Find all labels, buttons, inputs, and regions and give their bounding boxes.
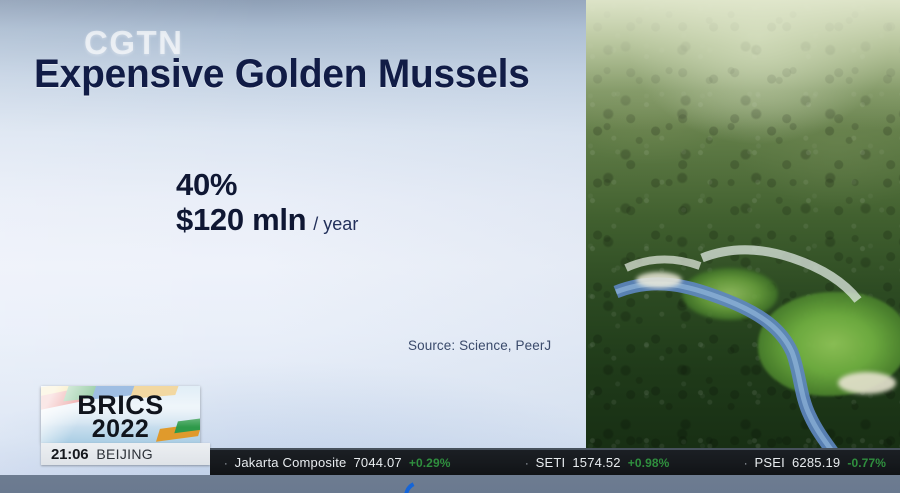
source-attribution: Source: Science, PeerJ (408, 338, 551, 353)
clock-city: BEIJING (96, 446, 153, 462)
stat-amount-unit: / year (313, 213, 358, 236)
ticker-index-value: 7044.07 (353, 455, 401, 470)
ticker-item: · PSEI 6285.19 -0.77% (744, 455, 886, 470)
infographic-panel: CGTN Expensive Golden Mussels 40% $120 m… (0, 0, 586, 475)
sandbank-lower (838, 372, 896, 394)
ticker-bullet-icon: · (224, 459, 228, 470)
video-frame: CGTN Expensive Golden Mussels 40% $120 m… (0, 0, 900, 475)
ticker-item: · Jakarta Composite 7044.07 +0.29% (224, 455, 451, 470)
ticker-bullet-icon: · (744, 459, 748, 470)
clock-bar: 21:06 BEIJING (41, 443, 210, 465)
ticker-index-change: -0.77% (847, 456, 886, 470)
ticker-index-name: SETI (536, 455, 566, 470)
ticker-item: · SETI 1574.52 +0.98% (525, 455, 669, 470)
stat-percentage: 40% (176, 168, 358, 201)
stock-ticker: · Jakarta Composite 7044.07 +0.29% · SET… (210, 450, 900, 475)
ticker-index-name: PSEI (755, 455, 785, 470)
ticker-index-change: +0.98% (628, 456, 670, 470)
brics-logo-badge: BRICS 2022 (41, 386, 200, 443)
clock-time: 21:06 (51, 446, 88, 463)
stat-amount-row: $120 mln / year (176, 201, 358, 240)
aerial-rainforest-footage (586, 0, 900, 475)
horizon-haze (586, 0, 900, 130)
stat-amount: $120 mln (176, 201, 306, 240)
ticker-index-name: Jakarta Composite (235, 455, 347, 470)
ticker-index-value: 6285.19 (792, 455, 840, 470)
statistics-block: 40% $120 mln / year (176, 168, 358, 240)
page-title: Expensive Golden Mussels (34, 52, 530, 97)
broadcast-screen: CGTN Expensive Golden Mussels 40% $120 m… (0, 0, 900, 493)
brics-year: 2022 (41, 417, 200, 442)
ticker-items: · Jakarta Composite 7044.07 +0.29% · SET… (210, 455, 900, 470)
sandbank-upper (636, 272, 682, 288)
ticker-bullet-icon: · (525, 459, 529, 470)
ticker-index-value: 1574.52 (572, 455, 620, 470)
ticker-index-change: +0.29% (409, 456, 451, 470)
